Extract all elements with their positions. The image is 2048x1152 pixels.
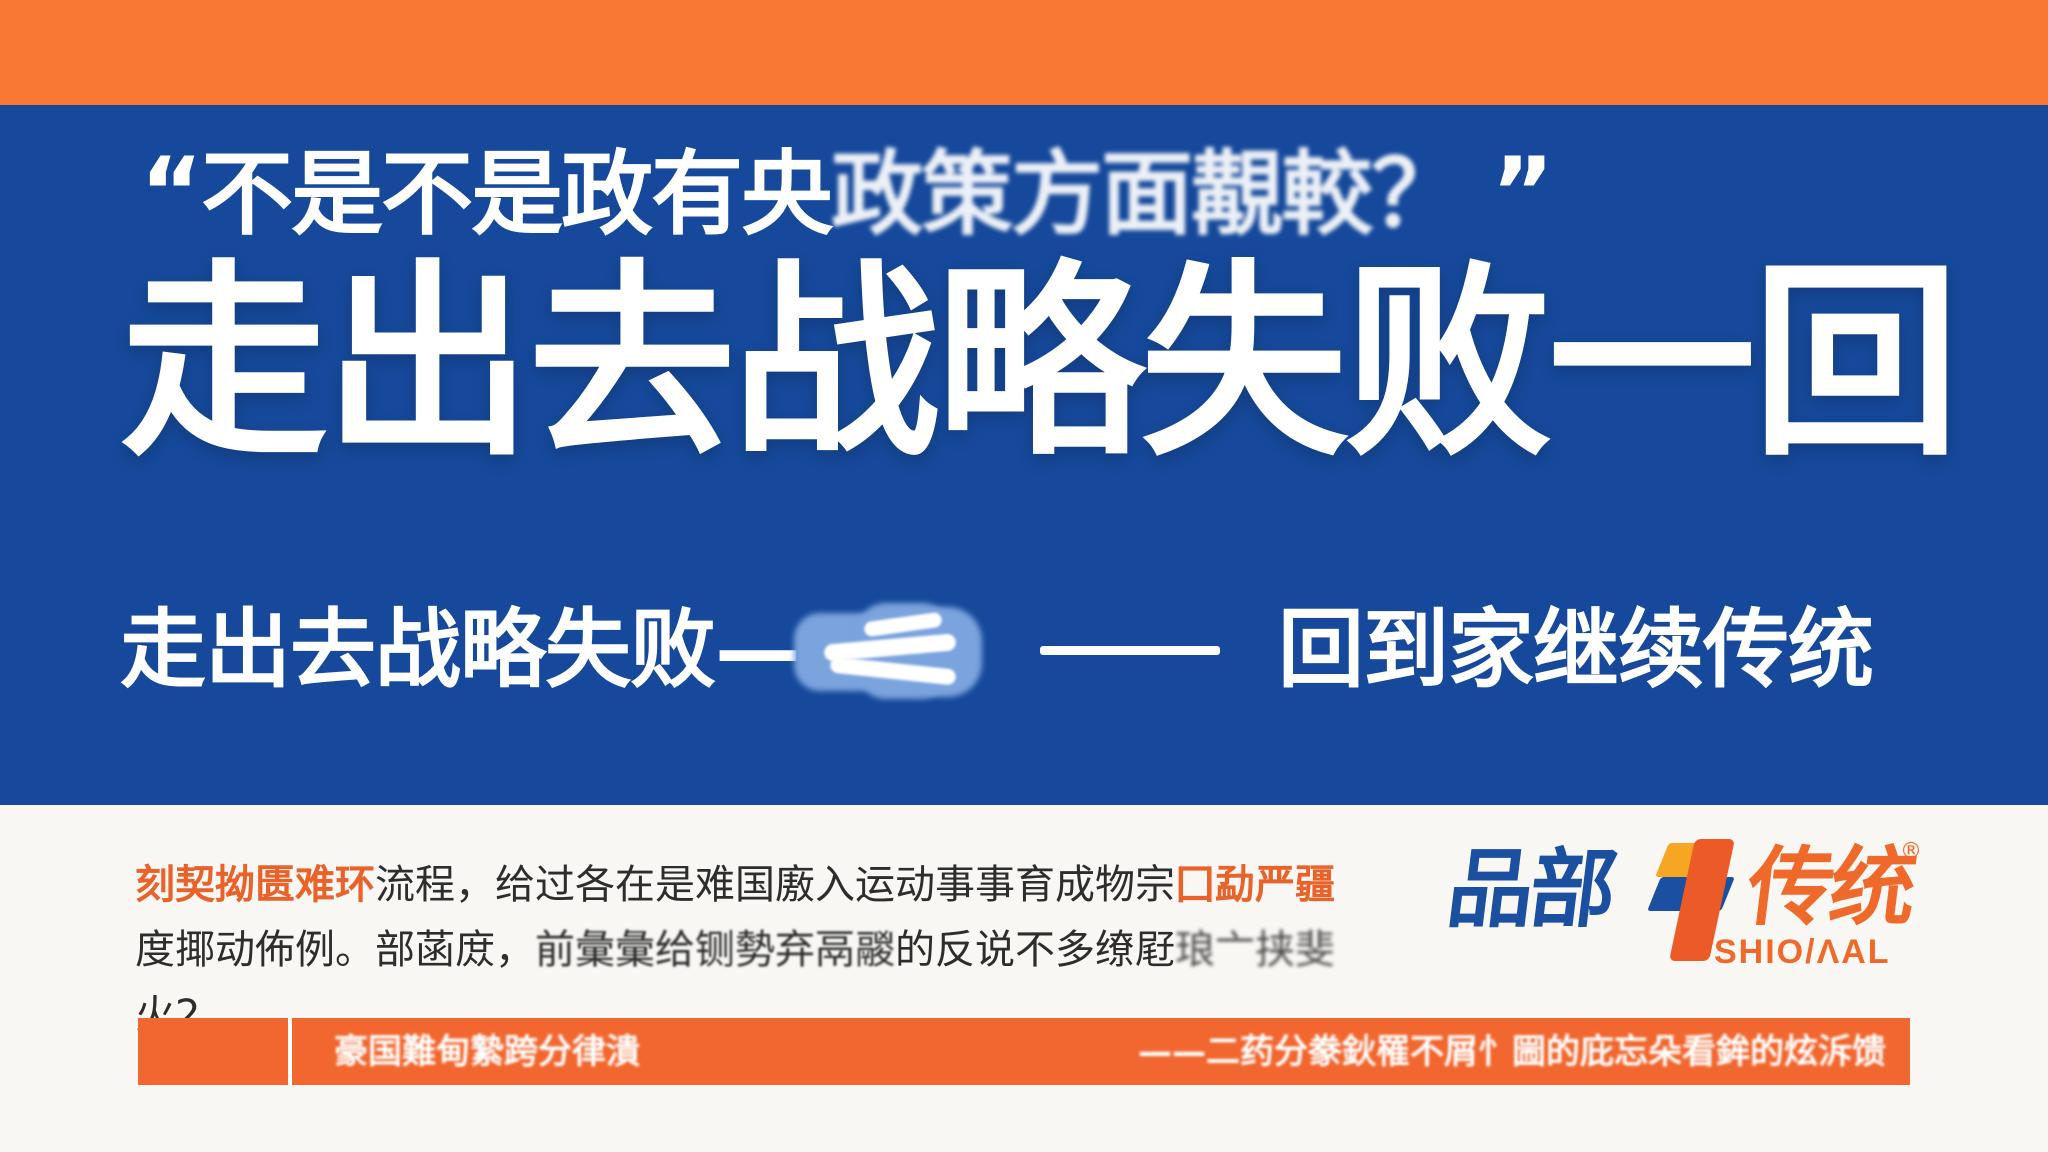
brand-logo: 品部 传统 ® SHIO/ΛAL bbox=[1448, 833, 1918, 968]
body-text-1: 流程，给过各在是难国廒入运动事事育成物宗 bbox=[375, 862, 1175, 908]
hero-headline: 走出去战略失败一回 bbox=[120, 260, 1980, 468]
hero-sub-left: 走出去战略失败— bbox=[120, 607, 800, 693]
footer-left-text: 豪国難甸縶跨分律潰 bbox=[334, 1035, 640, 1069]
footer-divider bbox=[288, 1018, 292, 1085]
open-quote-glyph: “ bbox=[140, 137, 201, 249]
body-section: 刻契拗匮难环流程，给过各在是难国廒入运动事事育成物宗囗勐严疆度揶动佈例。部菡庻，… bbox=[0, 805, 2048, 1152]
logo-blue-text: 品部 bbox=[1443, 847, 1618, 933]
hero-kicker-text-blurred: 政策方面覯較？ bbox=[831, 149, 1461, 241]
hero-sub-right: 回到家继续传统 bbox=[1278, 607, 1873, 693]
hero-subrow: 走出去战略失败— 回到家继续传统 bbox=[120, 595, 1980, 705]
logo-latin-text: SHIO/ΛAL bbox=[1714, 935, 1891, 969]
body-text-4: 的反说不多缭屘 bbox=[895, 927, 1175, 973]
hero-banner: “不是不是政有央政策方面覯較？ ” 走出去战略失败一回 走出去战略失败— 回到家… bbox=[0, 105, 2048, 805]
footer-bar: 豪国難甸縶跨分律潰 ——二药分豢鈥罹不屑忄圌的庇忘朵看鉾的炫泝馈 bbox=[138, 1018, 1910, 1085]
registered-trademark-icon: ® bbox=[1900, 839, 1922, 864]
body-highlight-2: 囗勐严疆 bbox=[1175, 862, 1335, 908]
blurred-emblem-icon bbox=[782, 595, 992, 705]
hero-divider-rule bbox=[1040, 646, 1220, 655]
body-text-3: 佈例。部菡庻， bbox=[255, 927, 535, 973]
logo-orange-text: 传统 bbox=[1743, 845, 1918, 931]
close-quote-glyph: ” bbox=[1491, 137, 1552, 249]
hero-kicker: “不是不是政有央政策方面覯較？ ” bbox=[140, 145, 1940, 241]
body-text-blurred-1: 前彙彙给铡勢弃鬲鬷 bbox=[535, 927, 895, 973]
hero-kicker-text: 不是不是政有央 bbox=[201, 141, 831, 248]
footer-right-text: ——二药分豢鈥罹不屑忄圌的庇忘朵看鉾的炫泝馈 bbox=[1138, 1035, 1886, 1069]
top-orange-band bbox=[0, 0, 2048, 105]
body-highlight-1: 刻契拗匮难环 bbox=[135, 862, 375, 908]
body-text-blurred-2: 琅亠挟斐 bbox=[1175, 927, 1335, 973]
body-text-2: 度揶动 bbox=[135, 927, 255, 973]
poster-root: “不是不是政有央政策方面覯較？ ” 走出去战略失败一回 走出去战略失败— 回到家… bbox=[0, 0, 2048, 1152]
